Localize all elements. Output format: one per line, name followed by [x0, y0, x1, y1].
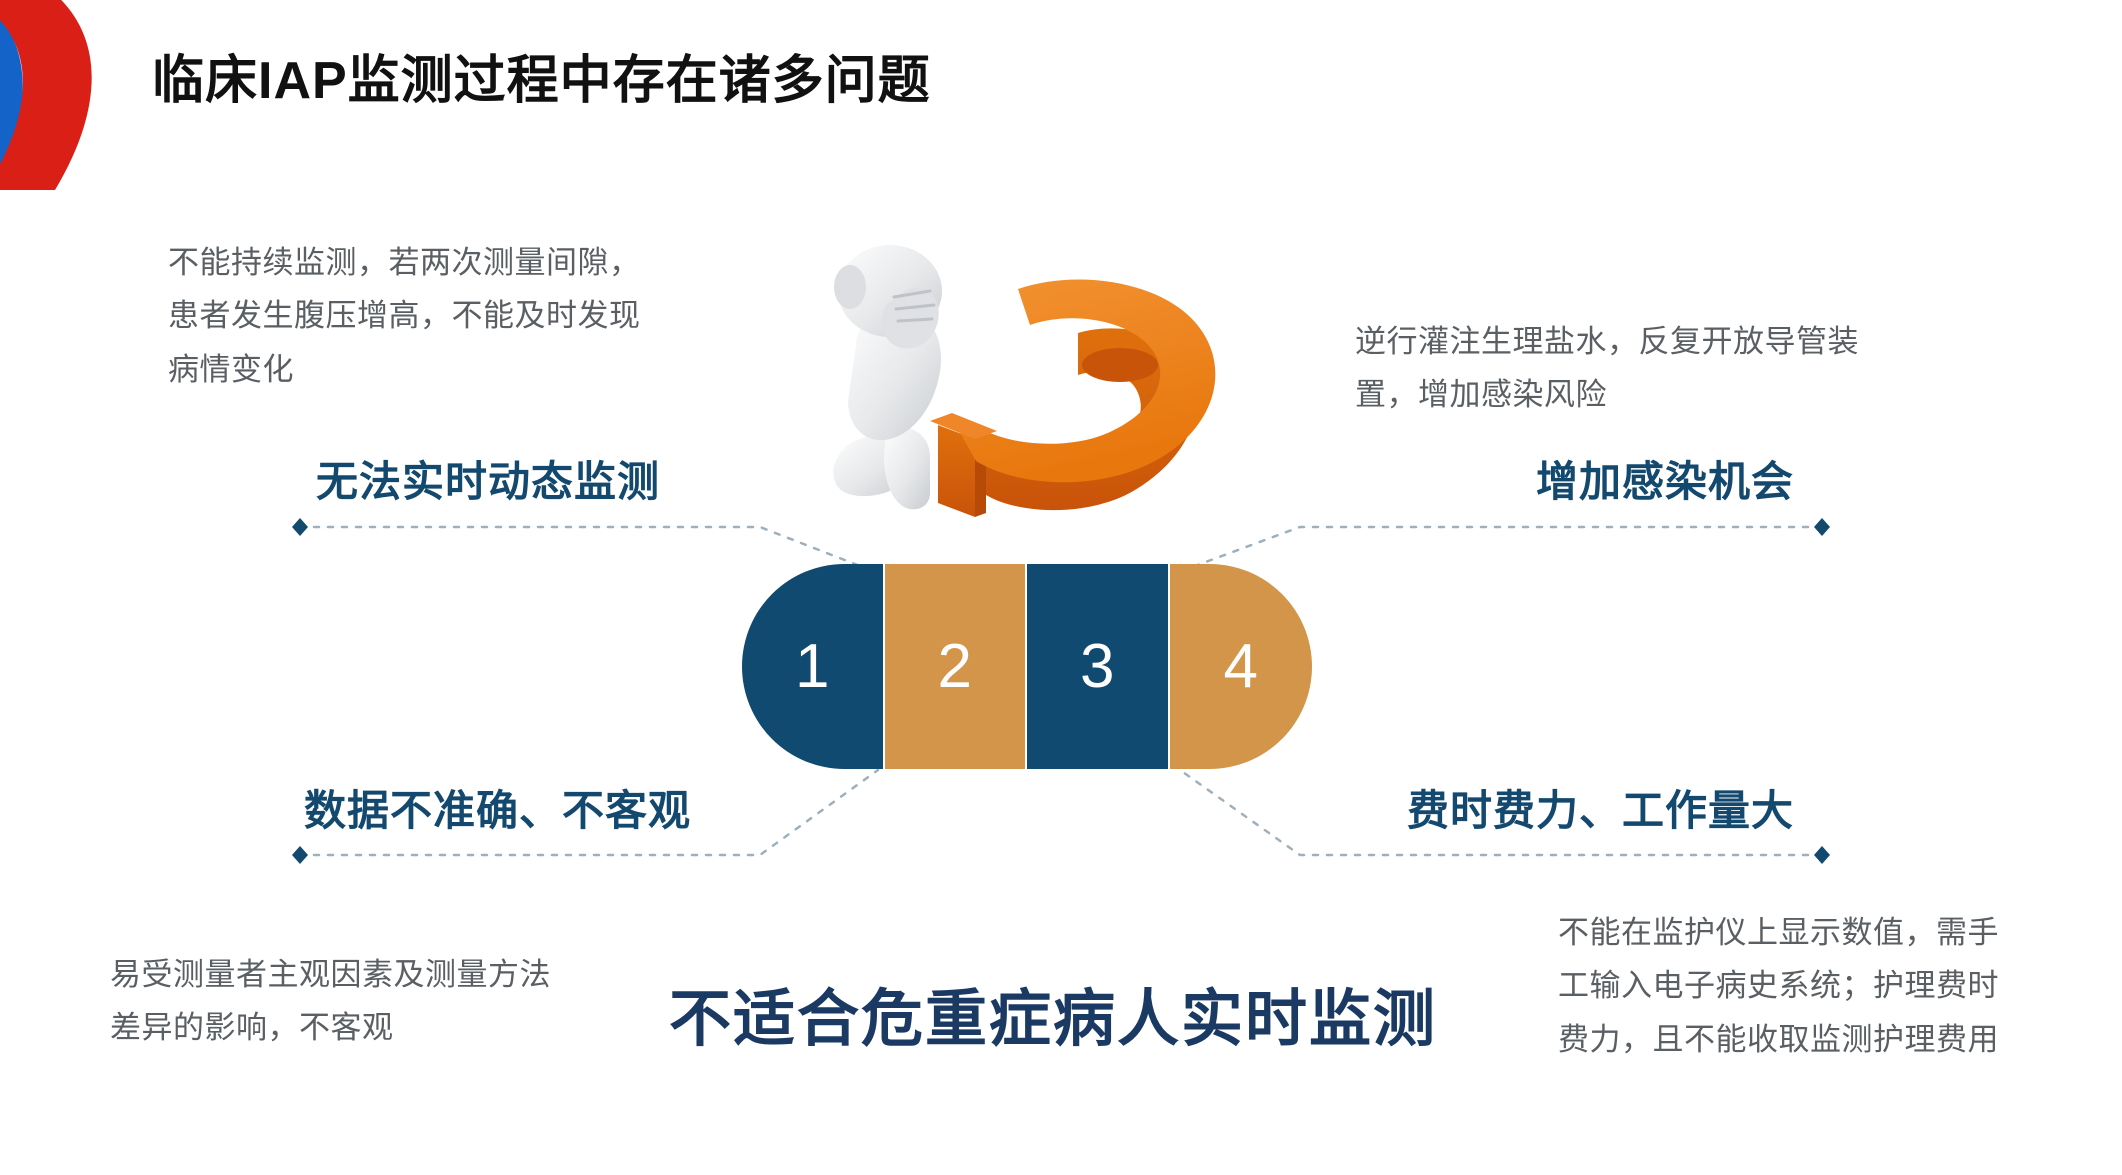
figure-hand-on-head — [882, 288, 939, 349]
connector-diamond-bottom-right — [1814, 846, 1830, 864]
question-mark-base-side — [938, 425, 975, 517]
quadrant-body-bottom-right: 不能在监护仪上显示数值，需手工输入电子病史系统；护理费时费力，且不能收取监测护理… — [1558, 906, 2028, 1066]
quadrant-heading-bottom-right: 费时费力、工作量大 — [1407, 777, 1794, 838]
quadrant-body-bottom-left: 易受测量者主观因素及测量方法差异的影响，不客观 — [110, 948, 580, 1055]
figure-elbow — [834, 265, 866, 309]
figure-leg-front — [884, 427, 930, 509]
pill-segment-2[interactable]: 2 — [885, 564, 1028, 769]
quadrant-body-top-right: 逆行灌注生理盐水，反复开放导管装置，增加感染风险 — [1355, 315, 1875, 422]
pill-segment-4[interactable]: 4 — [1170, 564, 1313, 769]
connector-line-top-right — [1195, 527, 1822, 566]
figure-head — [838, 245, 942, 337]
swoosh-red-shape — [0, 0, 92, 190]
question-mark-hole — [1082, 348, 1158, 382]
figure-torso — [848, 310, 941, 440]
pill-segment-3[interactable]: 3 — [1027, 564, 1170, 769]
figure-leg-back — [833, 436, 912, 496]
connector-diamond-top-left — [292, 518, 308, 536]
slide-canvas: 临床IAP监测过程中存在诸多问题 — [0, 0, 2122, 1175]
quadrant-heading-top-left: 无法实时动态监测 — [316, 448, 660, 509]
page-title: 临床IAP监测过程中存在诸多问题 — [152, 38, 931, 113]
quadrant-heading-bottom-left: 数据不准确、不客观 — [304, 777, 691, 838]
pill-segment-1[interactable]: 1 — [742, 564, 885, 769]
question-mark-base-top — [930, 413, 997, 439]
connector-diamond-bottom-left — [292, 846, 308, 864]
connector-diamond-top-right — [1814, 518, 1830, 536]
question-mark-hook-side — [986, 328, 1197, 510]
question-mark-base-edge — [975, 435, 986, 517]
quadrant-body-top-left: 不能持续监测，若两次测量间隙，患者发生腹压增高，不能及时发现病情变化 — [168, 236, 668, 396]
quadrant-heading-top-right: 增加感染机会 — [1536, 448, 1794, 509]
connector-line-top-left — [300, 527, 860, 566]
conclusion-text: 不适合危重症病人实时监测 — [669, 968, 1437, 1058]
figure-fingers — [894, 291, 934, 321]
confused-person-question-mark-illustration — [790, 225, 1250, 535]
question-mark-top-face — [950, 279, 1215, 482]
swoosh-blue-shape — [0, 0, 23, 190]
numbered-pill-group: 1 2 3 4 — [742, 564, 1312, 769]
